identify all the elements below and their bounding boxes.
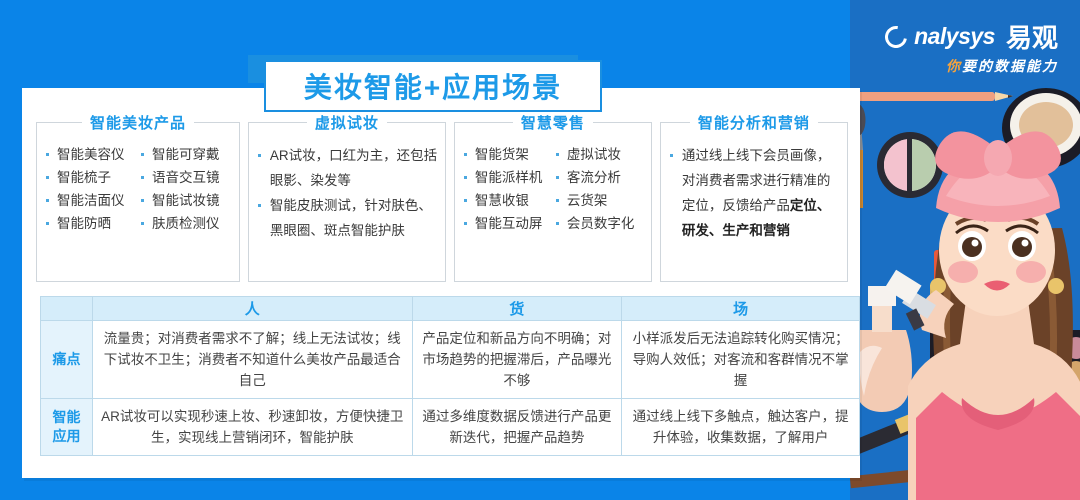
- list-item: 智能互动屏: [461, 212, 553, 235]
- scenario-column-smart-retail: 智慧零售 智能货架 智能派样机 智慧收银 智能互动屏 虚拟试妆 客流分析 云货架…: [454, 122, 652, 282]
- column-right-list: 虚拟试妆 客流分析 云货架 会员数字化: [553, 143, 645, 235]
- analysys-swoosh-icon: [885, 26, 907, 48]
- table-cell: 小样派发后无法追踪转化购买情况；导购人效低；对客流和客群情况不掌握: [622, 321, 860, 399]
- logo-wordmark: nalysys: [914, 23, 995, 50]
- column-title-text: 虚拟试妆: [307, 115, 387, 132]
- column-title: 智能分析和营销: [661, 112, 847, 133]
- column-title: 智慧零售: [455, 112, 651, 133]
- list-item: 智能皮肤测试，针对肤色、黑眼圈、斑点智能护肤: [255, 193, 439, 243]
- list-item: 肤质检测仪: [138, 212, 233, 235]
- table-header-people: 人: [92, 297, 412, 321]
- list-item: 智慧收银: [461, 189, 553, 212]
- page-title: 美妆智能+应用场景: [264, 60, 602, 112]
- column-list: 通过线上线下会员画像，对消费者需求进行精准的定位，反馈给产品定位、研发、生产和营…: [667, 143, 841, 243]
- list-item: 智能梳子: [43, 166, 138, 189]
- analysys-logo: nalysys 易观 你要的数据能力: [885, 18, 1058, 76]
- list-item: 虚拟试妆: [553, 143, 645, 166]
- column-title: 智能美妆产品: [37, 112, 239, 133]
- list-item: AR试妆，口红为主，还包括眼影、染发等: [255, 143, 439, 193]
- column-title-text: 智能分析和营销: [690, 115, 818, 132]
- column-left-list: 智能货架 智能派样机 智慧收银 智能互动屏: [461, 143, 553, 235]
- table-corner-cell: [41, 297, 93, 321]
- table-header-row: 人 货 场: [41, 297, 860, 321]
- list-item: 云货架: [553, 189, 645, 212]
- scenario-column-smart-analytics-marketing: 智能分析和营销 通过线上线下会员画像，对消费者需求进行精准的定位，反馈给产品定位…: [660, 122, 848, 282]
- logo-tagline-rest: 要的数据能力: [962, 58, 1058, 74]
- table-cell: 流量贵；对消费者需求不了解；线上无法试妆；线下试妆不卫生；消费者不知道什么美妆产…: [92, 321, 412, 399]
- table-header-goods: 货: [412, 297, 622, 321]
- list-item: 智能可穿戴: [138, 143, 233, 166]
- table-cell: 产品定位和新品方向不明确；对市场趋势的把握滞后，产品曝光不够: [412, 321, 622, 399]
- column-left-list: 智能美容仪 智能梳子 智能洁面仪 智能防晒: [43, 143, 138, 235]
- table-cell: 通过多维度数据反馈进行产品更新迭代，把握产品趋势: [412, 399, 622, 456]
- list-item: 智能派样机: [461, 166, 553, 189]
- table-row: 痛点 流量贵；对消费者需求不了解；线上无法试妆；线下试妆不卫生；消费者不知道什么…: [41, 321, 860, 399]
- column-title-text: 智能美妆产品: [82, 115, 194, 132]
- list-item: 智能货架: [461, 143, 553, 166]
- list-item: 智能洁面仪: [43, 189, 138, 212]
- scenario-column-smart-beauty-products: 智能美妆产品 智能美容仪 智能梳子 智能洁面仪 智能防晒 智能可穿戴 语音交互镜…: [36, 122, 240, 282]
- list-item: 通过线上线下会员画像，对消费者需求进行精准的定位，反馈给产品定位、研发、生产和营…: [667, 143, 841, 243]
- list-item: 智能美容仪: [43, 143, 138, 166]
- logo-tagline: 你要的数据能力: [885, 56, 1058, 76]
- page-title-text: 美妆智能+应用场景: [304, 66, 562, 106]
- list-item: 智能试妆镜: [138, 189, 233, 212]
- table-cell: 通过线上线下多触点，触达客户，提升体验，收集数据，了解用户: [622, 399, 860, 456]
- logo-chinese-name: 易观: [1006, 18, 1058, 55]
- list-item: 客流分析: [553, 166, 645, 189]
- column-list: AR试妆，口红为主，还包括眼影、染发等 智能皮肤测试，针对肤色、黑眼圈、斑点智能…: [255, 143, 439, 243]
- row-label-pain-points: 痛点: [41, 321, 93, 399]
- column-title-text: 智慧零售: [513, 115, 593, 132]
- column-right-list: 智能可穿戴 语音交互镜 智能试妆镜 肤质检测仪: [138, 143, 233, 235]
- list-item: 会员数字化: [553, 212, 645, 235]
- scenario-column-virtual-makeup-trial: 虚拟试妆 AR试妆，口红为主，还包括眼影、染发等 智能皮肤测试，针对肤色、黑眼圈…: [248, 122, 446, 282]
- scenario-columns: 智能美妆产品 智能美容仪 智能梳子 智能洁面仪 智能防晒 智能可穿戴 语音交互镜…: [36, 122, 848, 282]
- pain-points-table: 人 货 场 痛点 流量贵；对消费者需求不了解；线上无法试妆；线下试妆不卫生；消费…: [40, 296, 860, 456]
- row-label-smart-applications: 智能 应用: [41, 399, 93, 456]
- row-label-line2: 应用: [52, 428, 80, 444]
- table-row: 智能 应用 AR试妆可以实现秒速上妆、秒速卸妆，方便快捷卫生，实现线上营销闭环，…: [41, 399, 860, 456]
- list-item: 智能防晒: [43, 212, 138, 235]
- logo-tagline-first: 你: [946, 58, 962, 74]
- table-cell: AR试妆可以实现秒速上妆、秒速卸妆，方便快捷卫生，实现线上营销闭环，智能护肤: [92, 399, 412, 456]
- column-title: 虚拟试妆: [249, 112, 445, 133]
- row-label-line1: 智能: [52, 409, 80, 425]
- table-header-place: 场: [622, 297, 860, 321]
- list-item: 语音交互镜: [138, 166, 233, 189]
